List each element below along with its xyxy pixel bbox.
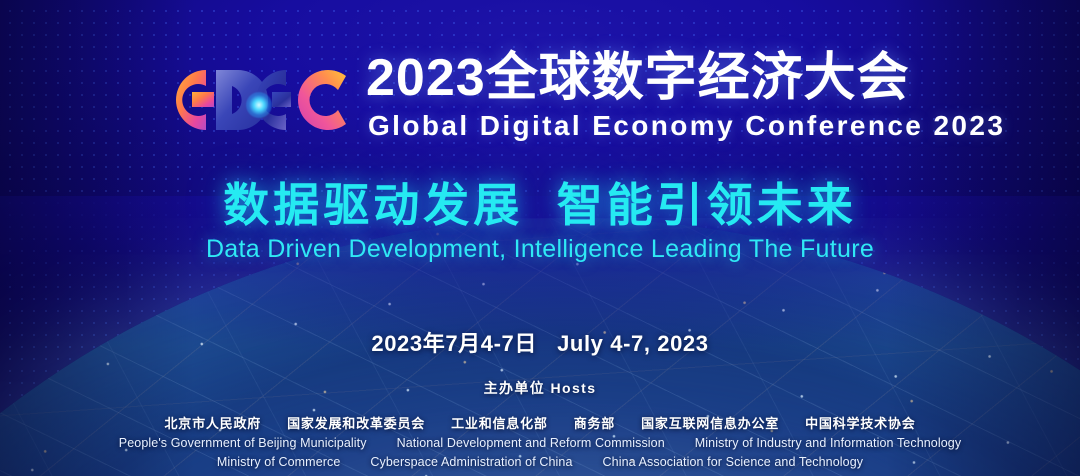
host-item-cn: 北京市人民政府 (164, 413, 261, 432)
host-item-en: Ministry of Industry and Information Tec… (695, 436, 961, 450)
host-item-cn: 中国科学技术协会 (805, 413, 915, 432)
hosts-list-en-row2: Ministry of Commerce Cyberspace Administ… (0, 455, 1080, 469)
host-item-en: Cyberspace Administration of China (370, 455, 572, 469)
host-item-cn: 商务部 (574, 413, 615, 432)
event-date: 2023年7月4-7日 July 4-7, 2023 (0, 333, 1080, 355)
conference-poster: 2023全球数字经济大会 Global Digital Economy Conf… (0, 0, 1080, 476)
hosts-list-en-row1: People's Government of Beijing Municipal… (0, 436, 1080, 450)
slogan-en: Data Driven Development, Intelligence Le… (0, 237, 1080, 262)
host-item-en: Ministry of Commerce (217, 455, 341, 469)
slogan-cn: 数据驱动发展 智能引领未来 (0, 182, 1080, 228)
host-item-en: China Association for Science and Techno… (603, 455, 864, 469)
host-item-cn: 工业和信息化部 (451, 413, 548, 432)
page-title-en: Global Digital Economy Conference 2023 (368, 112, 1005, 140)
hosts-list-cn: 北京市人民政府 国家发展和改革委员会 工业和信息化部 商务部 国家互联网信息办公… (0, 413, 1080, 432)
host-item-cn: 国家发展和改革委员会 (287, 413, 425, 432)
hosts-label: 主办单位 Hosts (0, 381, 1080, 395)
logo-spark-icon (246, 92, 272, 118)
host-item-cn: 国家互联网信息办公室 (641, 413, 779, 432)
page-title-cn: 2023全球数字经济大会 (366, 52, 910, 104)
host-item-en: National Development and Reform Commissi… (397, 436, 665, 450)
host-item-en: People's Government of Beijing Municipal… (119, 436, 367, 450)
gdec-logo (168, 56, 356, 144)
